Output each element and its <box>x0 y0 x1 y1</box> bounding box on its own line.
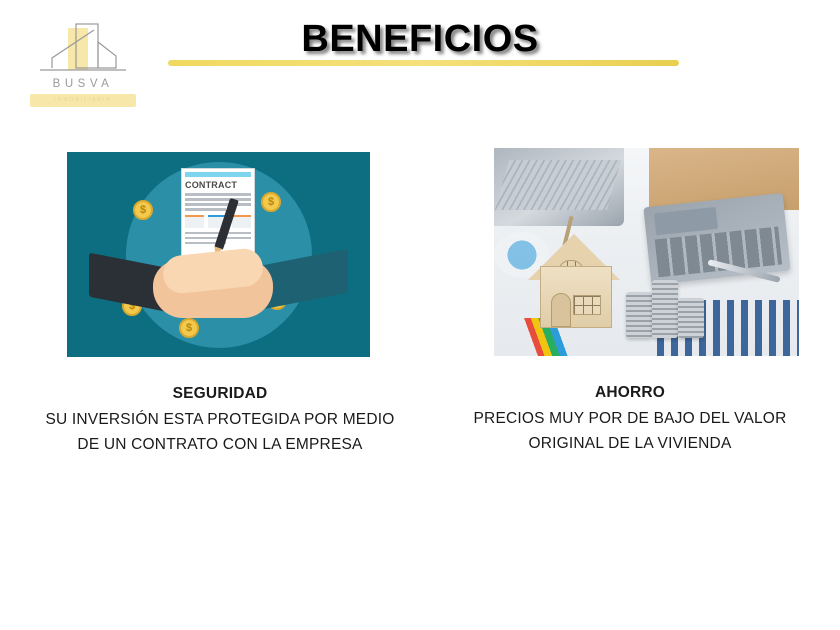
contract-field-box <box>185 215 204 228</box>
coin-stack <box>652 280 678 338</box>
house-window <box>573 295 601 315</box>
house-door <box>551 293 571 327</box>
house-savings-photo <box>494 148 799 356</box>
title-underline-rule <box>168 60 679 66</box>
contract-text-line <box>185 198 251 201</box>
laptop-keyboard <box>494 148 624 226</box>
logo-wordmark: BUSVA <box>24 78 142 90</box>
contract-text-line <box>185 208 226 211</box>
benefit-body: SU INVERSIÓN ESTA PROTEGIDA POR MEDIO DE… <box>40 407 400 457</box>
contract-text-line <box>185 193 251 196</box>
handshake-contract-illustration: CONTRACT $ $ $ $ $ <box>67 152 370 357</box>
wooden-model-house <box>528 216 620 328</box>
page-title: BENEFICIOS <box>0 18 840 61</box>
benefit-body: PRECIOS MUY POR DE BAJO DEL VALOR ORIGIN… <box>450 406 810 456</box>
calculator-screen <box>654 207 718 235</box>
logo-tagline: INMOBILIARIA <box>30 94 136 107</box>
benefit-card-ahorro: AHORRO PRECIOS MUY POR DE BAJO DEL VALOR… <box>450 148 810 456</box>
contract-field-row <box>185 215 251 228</box>
benefit-caption-seguridad: SEGURIDAD SU INVERSIÓN ESTA PROTEGIDA PO… <box>40 381 400 457</box>
coin-stack <box>678 298 704 338</box>
coin-icon: $ <box>179 318 199 338</box>
calculator-keypad <box>655 227 782 278</box>
benefit-heading: AHORRO <box>450 380 810 405</box>
calculator <box>643 193 790 285</box>
benefit-heading: SEGURIDAD <box>40 381 400 406</box>
contract-field-box <box>232 215 251 228</box>
house-body <box>540 266 612 328</box>
coin-icon: $ <box>133 200 153 220</box>
benefit-caption-ahorro: AHORRO PRECIOS MUY POR DE BAJO DEL VALOR… <box>450 380 810 456</box>
contract-text-line <box>185 203 251 206</box>
contract-header-bar <box>185 172 251 177</box>
benefit-card-seguridad: CONTRACT $ $ $ $ $ SEGURIDAD SU <box>40 148 400 457</box>
keyboard-keys <box>495 160 621 210</box>
coin-stack <box>626 292 652 338</box>
coin-icon: $ <box>261 192 281 212</box>
contract-title-label: CONTRACT <box>185 180 251 190</box>
